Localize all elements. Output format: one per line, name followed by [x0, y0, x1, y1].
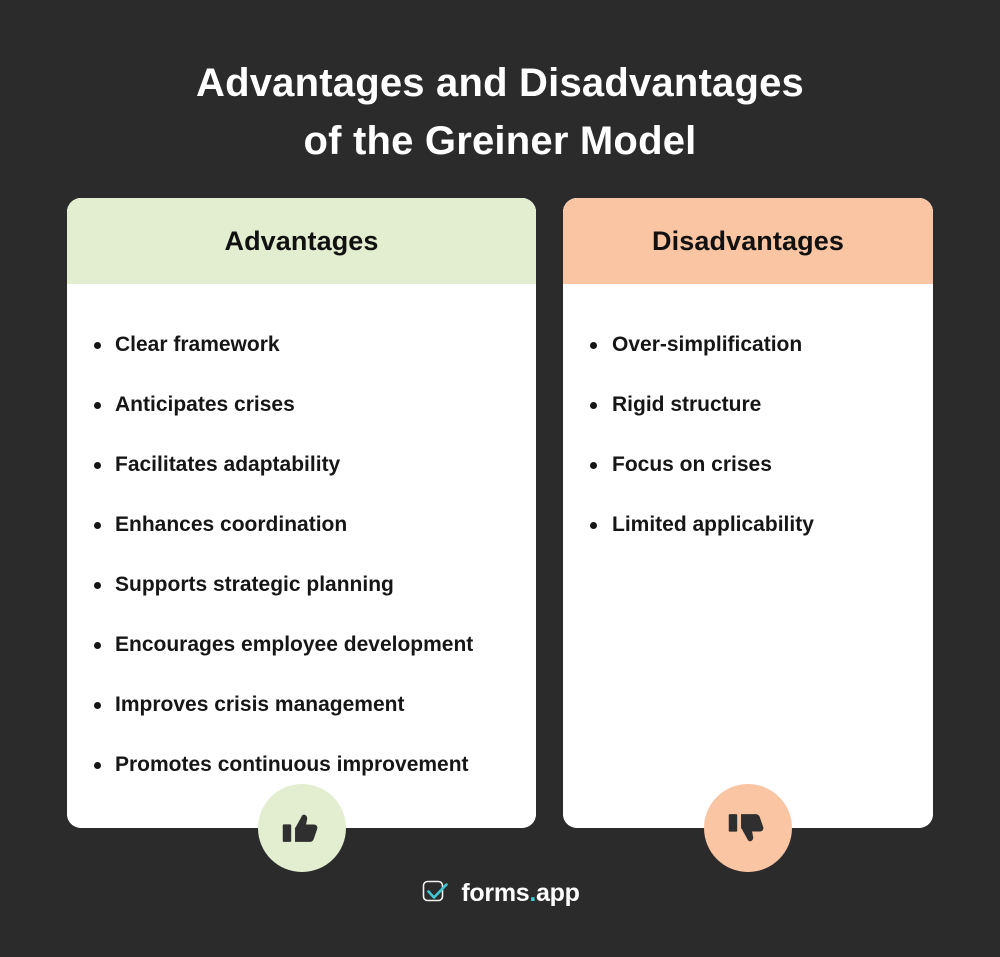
- disadvantages-card-header: Disadvantages: [563, 198, 933, 284]
- thumbs-down-icon: [726, 806, 770, 850]
- logo-word-app: app: [536, 879, 580, 907]
- bullet-icon: [94, 462, 101, 469]
- thumbs-down-badge: [704, 784, 792, 872]
- page-title-line-2: of the Greiner Model: [0, 112, 1000, 170]
- bullet-icon: [590, 522, 597, 529]
- bullet-icon: [590, 462, 597, 469]
- thumbs-up-badge: [258, 784, 346, 872]
- advantages-list: Clear framework Anticipates crises Facil…: [67, 284, 536, 795]
- list-item-label: Supports strategic planning: [115, 573, 394, 597]
- advantages-card: Advantages Clear framework Anticipates c…: [67, 198, 536, 828]
- list-item-label: Facilitates adaptability: [115, 453, 340, 477]
- list-item: Facilitates adaptability: [67, 435, 536, 495]
- list-item-label: Over-simplification: [612, 333, 802, 357]
- bullet-icon: [94, 582, 101, 589]
- list-item-label: Rigid structure: [612, 393, 761, 417]
- bullet-icon: [94, 402, 101, 409]
- bullet-icon: [94, 342, 101, 349]
- list-item-label: Focus on crises: [612, 453, 772, 477]
- bullet-icon: [590, 342, 597, 349]
- disadvantages-list: Over-simplification Rigid structure Focu…: [563, 284, 933, 555]
- bullet-icon: [94, 522, 101, 529]
- disadvantages-card: Disadvantages Over-simplification Rigid …: [563, 198, 933, 828]
- advantages-card-header: Advantages: [67, 198, 536, 284]
- list-item-label: Clear framework: [115, 333, 280, 357]
- forms-app-logo-icon: [420, 877, 452, 909]
- bullet-icon: [590, 402, 597, 409]
- advantages-card-body: Advantages Clear framework Anticipates c…: [67, 198, 536, 828]
- list-item: Clear framework: [67, 315, 536, 375]
- list-item: Over-simplification: [563, 315, 933, 375]
- list-item-label: Improves crisis management: [115, 693, 404, 717]
- logo-word-forms: forms: [461, 879, 529, 907]
- list-item-label: Encourages employee development: [115, 633, 473, 657]
- page-title-line-1: Advantages and Disadvantages: [0, 54, 1000, 112]
- list-item-label: Anticipates crises: [115, 393, 295, 417]
- disadvantages-card-body: Disadvantages Over-simplification Rigid …: [563, 198, 933, 828]
- forms-app-logo[interactable]: forms.app: [0, 877, 1000, 909]
- list-item: Supports strategic planning: [67, 555, 536, 615]
- list-item: Limited applicability: [563, 495, 933, 555]
- page-title: Advantages and Disadvantages of the Grei…: [0, 54, 1000, 170]
- list-item: Anticipates crises: [67, 375, 536, 435]
- list-item: Enhances coordination: [67, 495, 536, 555]
- disadvantages-header-label: Disadvantages: [652, 226, 844, 257]
- advantages-header-label: Advantages: [224, 226, 378, 257]
- bullet-icon: [94, 762, 101, 769]
- list-item: Encourages employee development: [67, 615, 536, 675]
- bullet-icon: [94, 642, 101, 649]
- list-item: Focus on crises: [563, 435, 933, 495]
- list-item-label: Enhances coordination: [115, 513, 347, 537]
- thumbs-up-icon: [280, 806, 324, 850]
- bullet-icon: [94, 702, 101, 709]
- list-item: Improves crisis management: [67, 675, 536, 735]
- list-item: Rigid structure: [563, 375, 933, 435]
- list-item-label: Promotes continuous improvement: [115, 753, 469, 777]
- list-item-label: Limited applicability: [612, 513, 814, 537]
- forms-app-logo-text: forms.app: [461, 881, 579, 906]
